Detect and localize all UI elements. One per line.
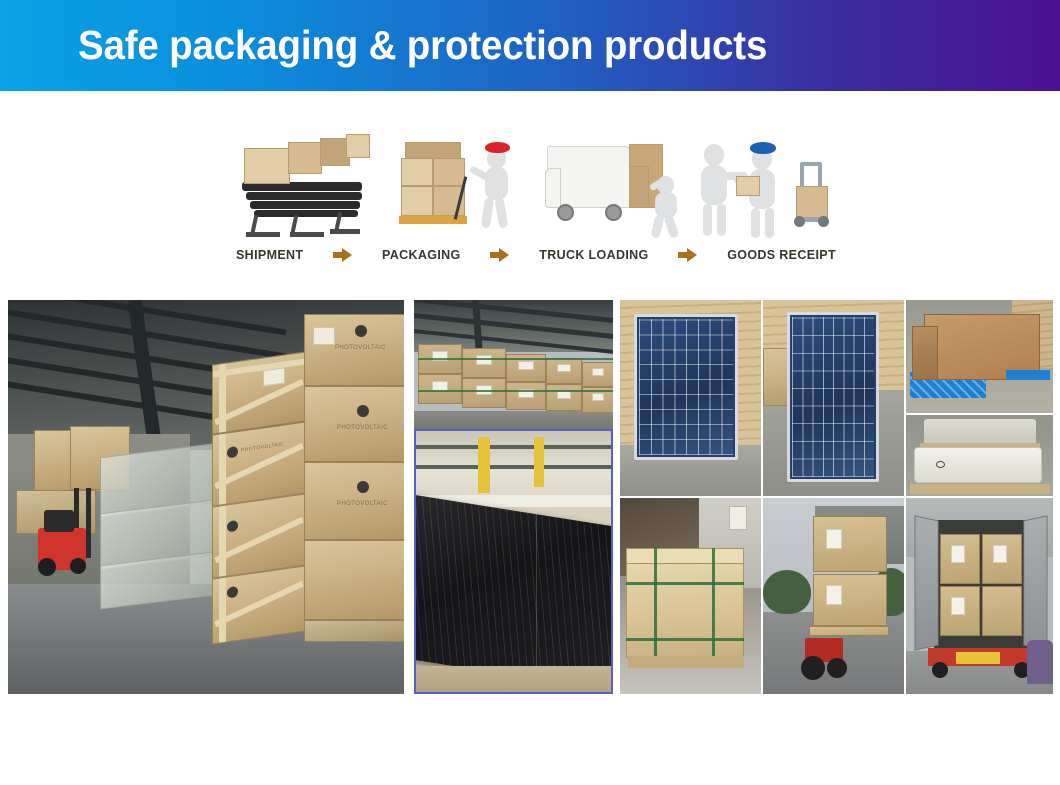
arrow-right-icon-1 bbox=[333, 248, 353, 262]
black-solar-panel-closeup bbox=[414, 429, 613, 694]
process-labels: SHIPMENT PACKAGING TRUCK LOADING GOODS R… bbox=[236, 248, 836, 262]
forklift-moving-pallets bbox=[763, 498, 904, 694]
process-infographic: SHIPMENT PACKAGING TRUCK LOADING GOODS R… bbox=[236, 118, 836, 283]
process-step-label-shipment: SHIPMENT bbox=[236, 248, 303, 262]
process-step-label-truck-loading: TRUCK LOADING bbox=[539, 248, 648, 262]
arrow-right-icon-3 bbox=[678, 248, 698, 262]
truck-loading-icon bbox=[543, 120, 683, 240]
header-banner: Safe packaging & protection products bbox=[0, 0, 1060, 91]
slide-page: Safe packaging & protection products bbox=[0, 0, 1060, 785]
container-loading bbox=[906, 498, 1053, 694]
process-step-label-goods-receipt: GOODS RECEIPT bbox=[727, 248, 836, 262]
process-figures bbox=[236, 118, 836, 240]
page-title: Safe packaging & protection products bbox=[78, 22, 767, 69]
mono-panel-on-pallet-2 bbox=[763, 300, 904, 496]
white-panel-back-sheet bbox=[906, 415, 1053, 496]
stock-column bbox=[414, 300, 613, 694]
plywood-crate-strapped bbox=[620, 498, 761, 694]
conveyor-boxes-icon bbox=[236, 120, 376, 240]
process-step-label-packaging: PACKAGING bbox=[382, 248, 461, 262]
carton-stock-warehouse bbox=[414, 300, 613, 429]
goods-receipt-handover-icon bbox=[696, 120, 836, 240]
warehouse-pallet-storage: PHOTOVOLTAIC PHOTOVOLTAIC bbox=[8, 300, 404, 694]
carton-box-on-blue-pallet bbox=[906, 300, 1053, 413]
pallet-jack-worker-icon bbox=[389, 120, 529, 240]
arrow-right-icon-2 bbox=[490, 248, 510, 262]
photo-gallery: PHOTOVOLTAIC PHOTOVOLTAIC bbox=[8, 300, 1053, 694]
collage-column bbox=[620, 300, 1053, 694]
mono-panel-on-pallet-1 bbox=[620, 300, 761, 496]
